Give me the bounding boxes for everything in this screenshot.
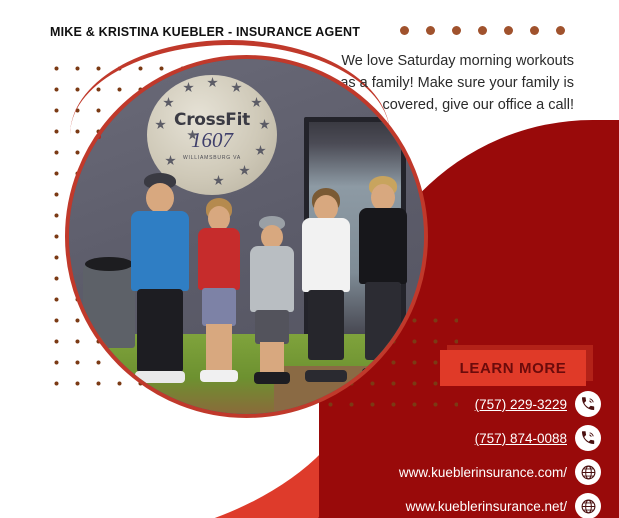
hoodie (250, 246, 294, 312)
person-daughter (193, 198, 245, 388)
star-icon (259, 119, 270, 130)
sign-city: WILLIAMSBURG VA (183, 155, 241, 161)
fire-extinguisher-icon (91, 119, 101, 139)
contact-text[interactable]: www.kueblerinsurance.com/ (399, 465, 567, 480)
legs (206, 324, 232, 372)
contact-row[interactable]: www.kueblerinsurance.com/ (399, 458, 601, 486)
contact-text[interactable]: (757) 874-0088 (475, 431, 567, 446)
star-icon (239, 165, 250, 176)
leggings (308, 290, 344, 360)
contact-row[interactable]: www.kueblerinsurance.net/ (399, 492, 601, 518)
shirt (131, 211, 189, 291)
head (146, 183, 174, 213)
person-son (247, 216, 297, 388)
learn-more-button[interactable]: LEARN MORE (440, 350, 586, 386)
star-icon (207, 77, 218, 88)
star-icon (165, 155, 176, 166)
shoes (362, 368, 404, 380)
jacket (302, 218, 350, 292)
shoes (200, 370, 238, 382)
head (371, 184, 395, 211)
star-icon (163, 97, 174, 108)
star-icon (231, 82, 242, 93)
person-mom (297, 188, 355, 388)
pants (137, 289, 183, 373)
shirt (359, 208, 407, 284)
star-icon (183, 82, 194, 93)
person-dad (125, 173, 195, 388)
star-icon (251, 97, 262, 108)
shoes (305, 370, 347, 382)
person-teen (355, 176, 411, 388)
dot-row-top-right (400, 26, 565, 35)
family-photo: CrossFit 1607 WILLIAMSBURG VA (65, 55, 428, 418)
decorative-dot (478, 26, 487, 35)
shorts (202, 288, 236, 326)
globe-icon[interactable] (575, 493, 601, 518)
phone-icon[interactable] (575, 425, 601, 451)
contact-text[interactable]: (757) 229-3229 (475, 397, 567, 412)
sign-title: CrossFit (174, 110, 250, 130)
decorative-dot (530, 26, 539, 35)
star-icon (213, 175, 224, 186)
photo-inner: CrossFit 1607 WILLIAMSBURG VA (69, 59, 424, 414)
decorative-dot (426, 26, 435, 35)
decorative-dot (504, 26, 513, 35)
decorative-dot (452, 26, 461, 35)
star-icon (255, 145, 266, 156)
phone-icon[interactable] (575, 391, 601, 417)
globe-icon[interactable] (575, 459, 601, 485)
contact-row[interactable]: (757) 229-3229 (399, 390, 601, 418)
shoes (254, 372, 290, 384)
star-icon (155, 119, 166, 130)
legs (260, 342, 284, 376)
pants (365, 282, 401, 360)
shirt (198, 228, 240, 290)
decorative-dot (556, 26, 565, 35)
contact-list: (757) 229-3229(757) 874-0088www.kuebleri… (399, 390, 601, 518)
poster-canvas: MIKE & KRISTINA KUEBLER - INSURANCE AGEN… (0, 0, 619, 518)
shorts (255, 310, 289, 344)
decorative-dot (400, 26, 409, 35)
contact-row[interactable]: (757) 874-0088 (399, 424, 601, 452)
page-title: MIKE & KRISTINA KUEBLER - INSURANCE AGEN… (50, 25, 360, 39)
shoes (135, 371, 185, 383)
contact-text[interactable]: www.kueblerinsurance.net/ (406, 499, 567, 514)
sign-number: 1607 (191, 128, 233, 153)
